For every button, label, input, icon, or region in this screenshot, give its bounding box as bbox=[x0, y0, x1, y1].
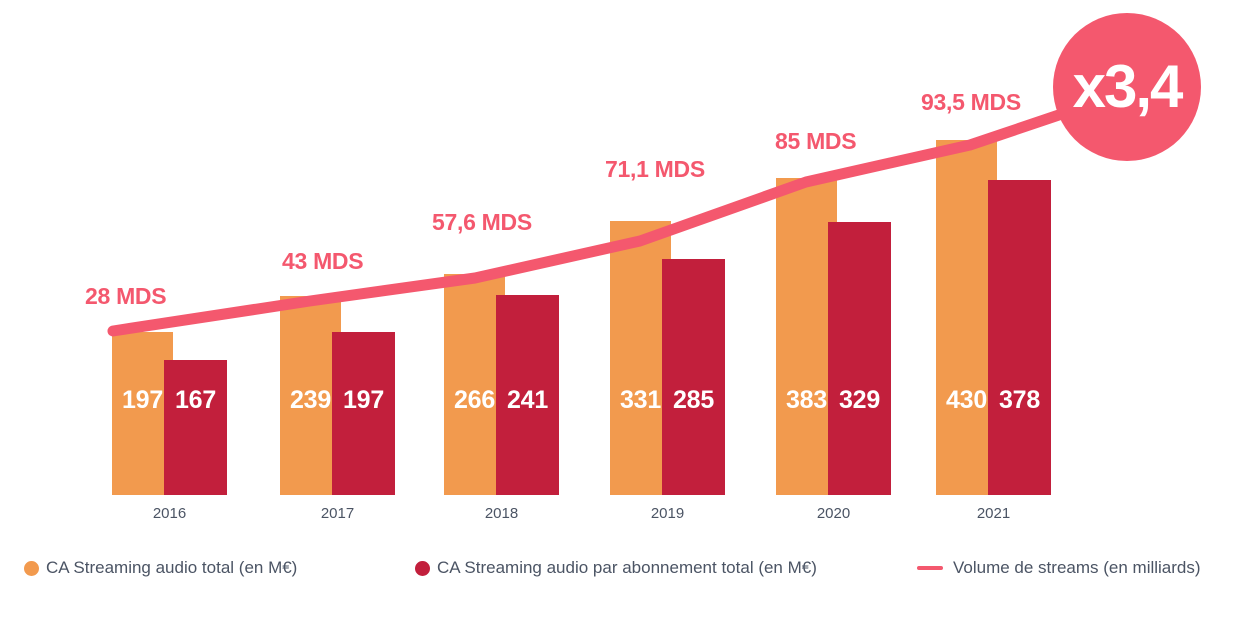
growth-multiplier-badge: x3,4 bbox=[1053, 13, 1201, 161]
line-label-2019: 71,1 MDS bbox=[605, 156, 705, 183]
x-tick-2021: 2021 bbox=[936, 505, 1051, 522]
legend-dot-icon-orange bbox=[24, 561, 39, 576]
legend-item-volume-streams[interactable]: Volume de streams (en milliards) bbox=[917, 558, 1201, 578]
chart-legend: CA Streaming audio total (en M€) CA Stre… bbox=[0, 548, 1255, 588]
x-tick-2018: 2018 bbox=[444, 505, 559, 522]
x-tick-2016: 2016 bbox=[112, 505, 227, 522]
line-label-2020: 85 MDS bbox=[775, 128, 856, 155]
streaming-revenue-chart: 197 167 239 197 266 241 331 285 383 bbox=[0, 0, 1255, 623]
legend-item-ca-streaming-total[interactable]: CA Streaming audio total (en M€) bbox=[24, 558, 297, 578]
legend-dot-icon-red bbox=[415, 561, 430, 576]
line-label-2017: 43 MDS bbox=[282, 248, 363, 275]
line-label-2016: 28 MDS bbox=[85, 283, 166, 310]
x-tick-2019: 2019 bbox=[610, 505, 725, 522]
line-label-2021: 93,5 MDS bbox=[921, 89, 1021, 116]
x-tick-2017: 2017 bbox=[280, 505, 395, 522]
legend-line-icon-coral bbox=[917, 566, 943, 570]
line-label-2018: 57,6 MDS bbox=[432, 209, 532, 236]
growth-multiplier-label: x3,4 bbox=[1073, 57, 1182, 117]
x-axis: 2016 2017 2018 2019 2020 2021 bbox=[0, 495, 1255, 535]
x-tick-2020: 2020 bbox=[776, 505, 891, 522]
legend-label-ca-streaming-total: CA Streaming audio total (en M€) bbox=[46, 558, 297, 578]
legend-label-ca-streaming-abonnement: CA Streaming audio par abonnement total … bbox=[437, 558, 817, 578]
legend-label-volume-streams: Volume de streams (en milliards) bbox=[953, 558, 1201, 578]
legend-item-ca-streaming-abonnement[interactable]: CA Streaming audio par abonnement total … bbox=[415, 558, 817, 578]
